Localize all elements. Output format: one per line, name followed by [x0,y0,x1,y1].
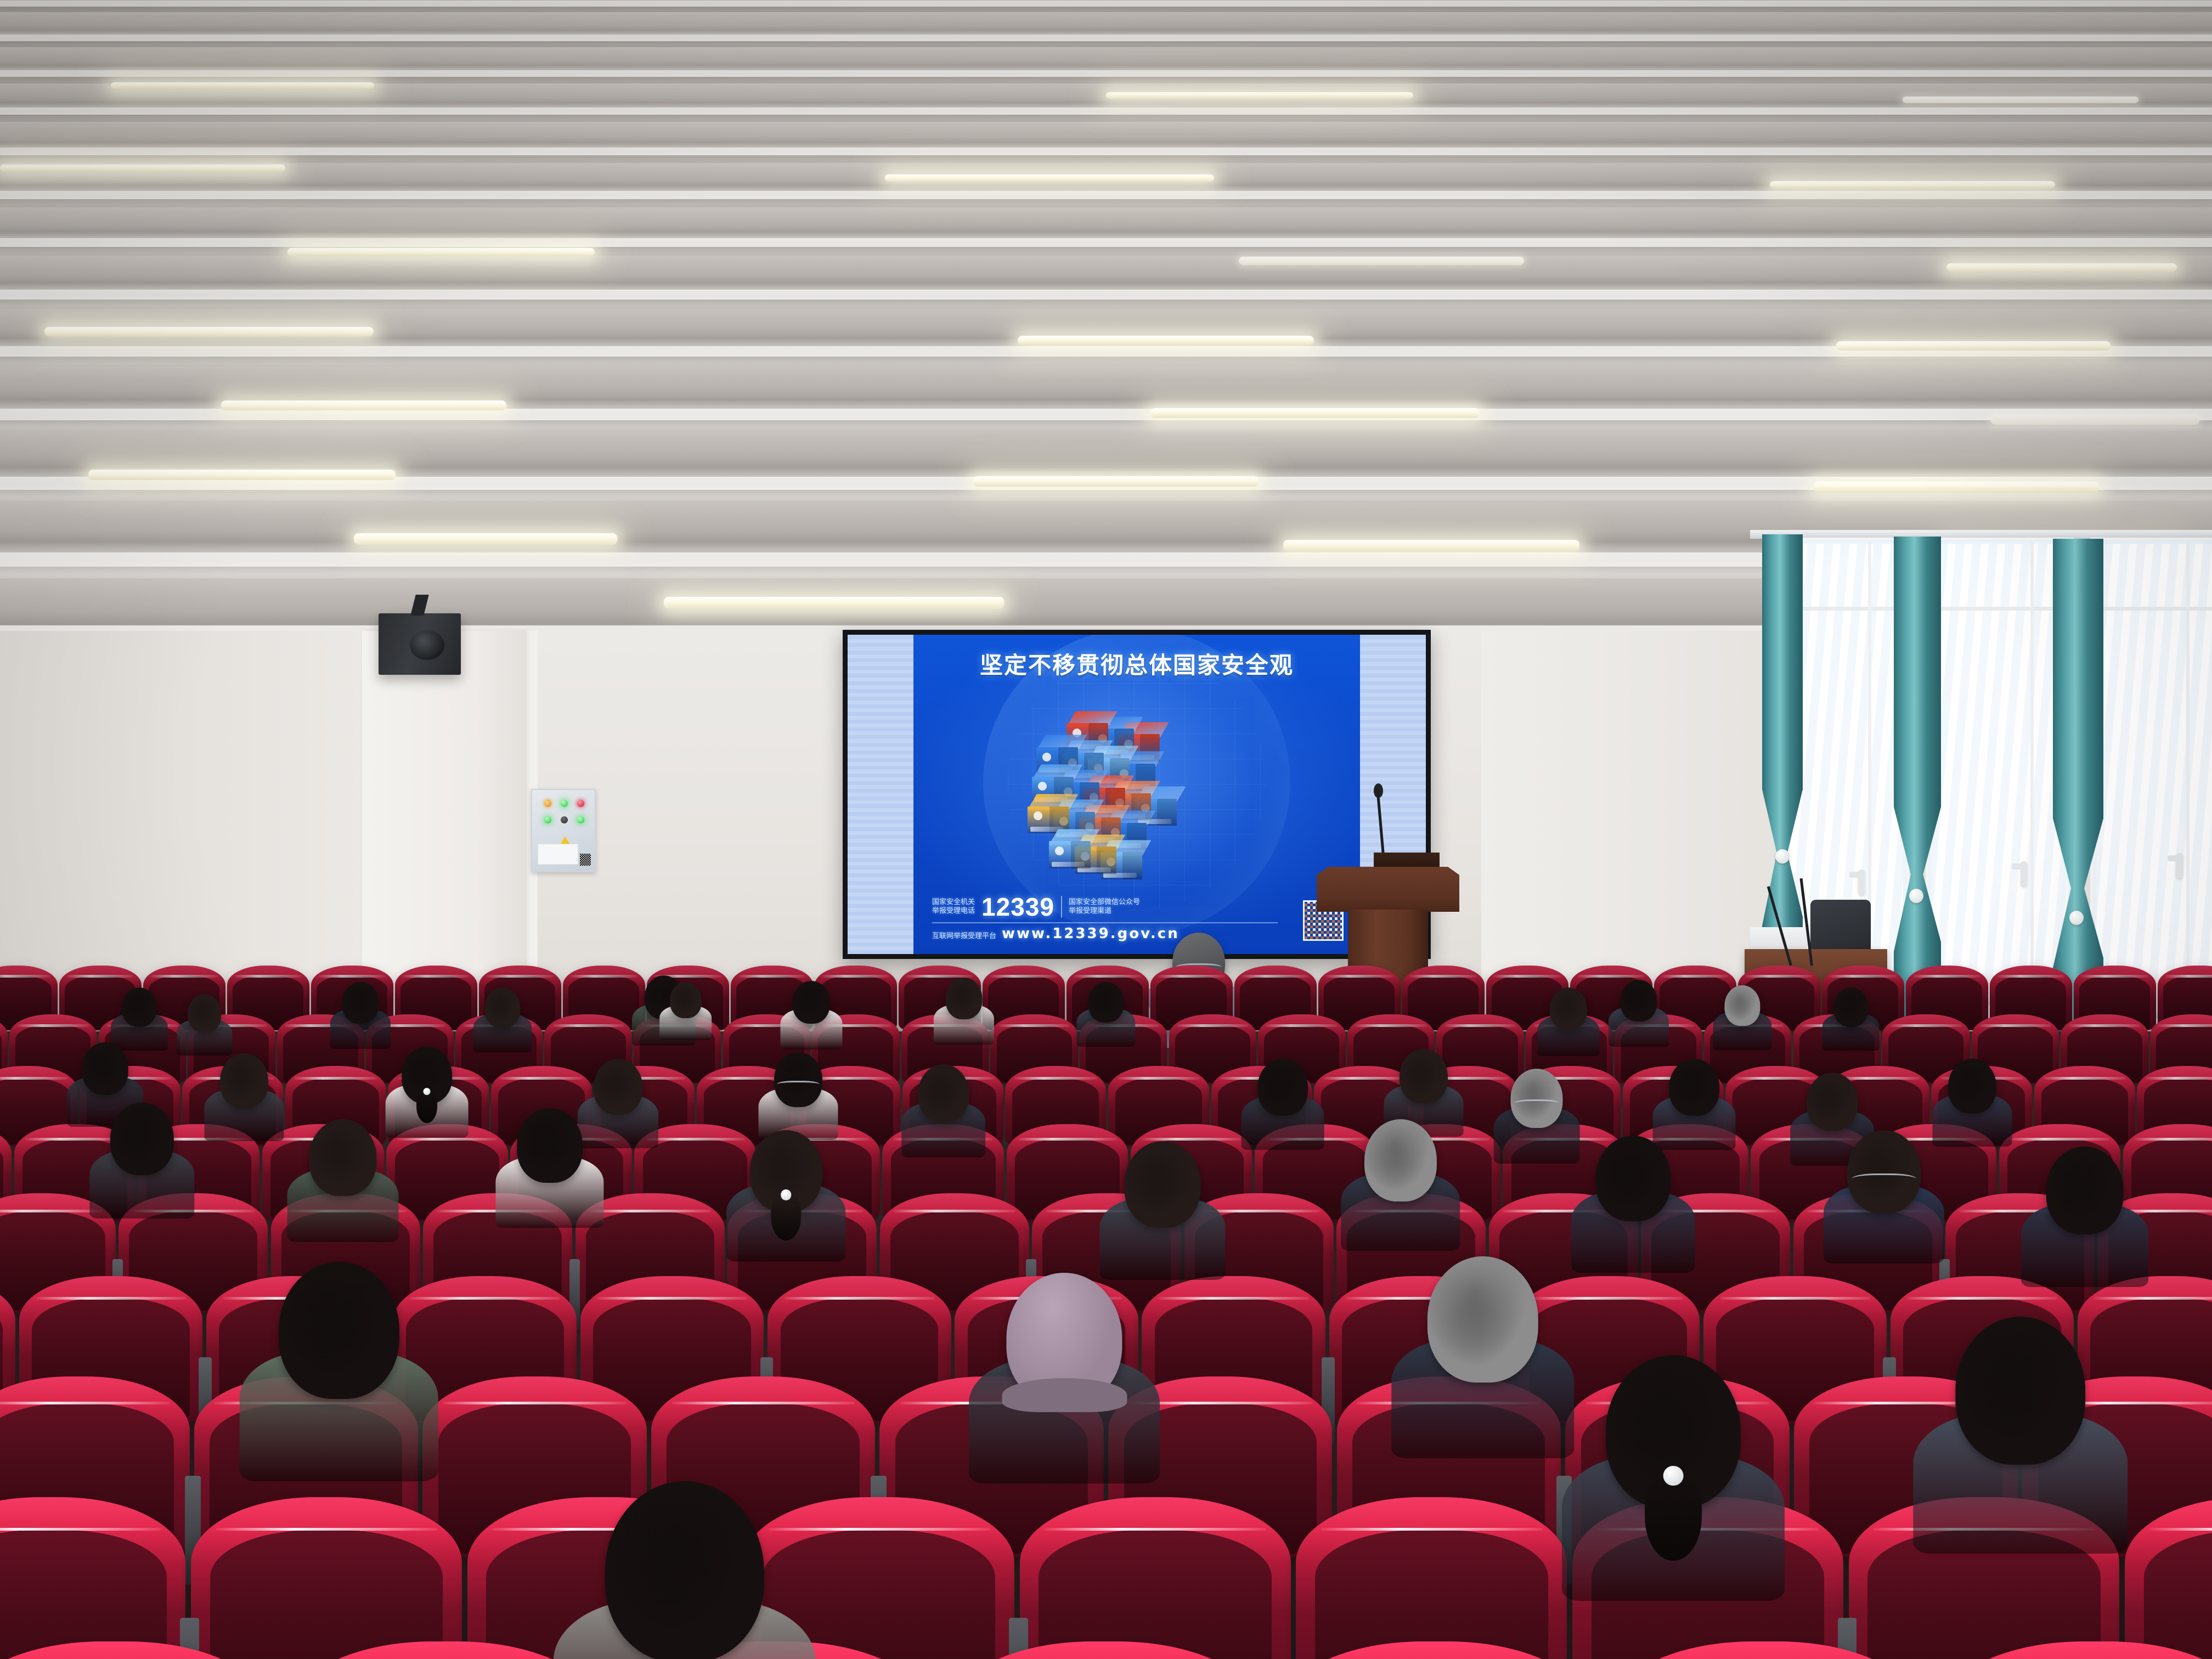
audience-member [88,1103,196,1218]
ceiling-led-tube [1239,257,1524,265]
audience-member-head [122,988,156,1027]
audience-member [494,1108,606,1228]
audience-member-head [1621,980,1657,1022]
audience-member-head [605,1481,764,1659]
auditorium-seat[interactable] [191,1497,462,1659]
ceiling-led-tube [221,400,506,410]
baffle-ledge [0,148,2212,155]
audience-member [658,982,713,1040]
slide-footer-row-hotline: 国家安全机关 举报受理电话 12339 国家安全部微信公众号 举报受理渠道 [932,893,1344,921]
cube-icon [1038,782,1047,791]
audience-member-head [1257,1059,1308,1116]
hair-tie [781,1189,792,1200]
audience-member [1821,988,1881,1051]
curtain-tieback-3 [2069,911,2084,925]
audience-member-head [750,1130,822,1212]
audience-member [1821,1130,1946,1263]
ceiling-led-tube [1018,336,1314,345]
eyeglasses-icon [777,1081,819,1090]
ceiling-led-tube [1946,263,2177,272]
curtain-tieback-2 [1909,889,1923,903]
ceiling-led-tube [1814,482,2099,493]
window-handle-3[interactable] [2176,853,2183,878]
ceiling-led-tube [1903,97,2138,103]
audience-member-head [1510,1069,1562,1128]
audience-member [757,1052,839,1140]
ceiling-baffle [0,366,2212,420]
ceiling-led-tube [885,174,1214,182]
ceiling-led-tube [1283,540,1579,551]
audience-member-head [774,1052,822,1107]
audience-member-head [1955,1317,2086,1465]
audience-member-head [279,1262,399,1399]
audience-member [1558,1355,1788,1601]
audience-member-head [1948,1059,1996,1114]
audience-member-head [1606,1355,1741,1509]
cube-icon [1055,847,1064,855]
baffle-ledge [0,70,2212,77]
audience-member-head [220,1053,268,1108]
audience-member-head [484,988,520,1028]
audience-member [933,978,995,1045]
audience-member-head [188,994,222,1032]
audience-member [329,982,392,1049]
ceiling-led-tube [0,165,285,172]
audience-member-head [309,1119,376,1196]
ceiling-baffle [0,47,2212,77]
slide-content: 坚定不移贯彻总体国家安全观 国家安全机关 举报受理电话 12339 国家安全部微… [913,635,1360,954]
audience-member [285,1119,400,1242]
audience-member-head [1669,1059,1719,1116]
audience-member-head [1595,1136,1671,1221]
ceiling-baffle [0,122,2212,155]
wall-speaker-left [379,613,461,675]
audience-member-head [402,1047,452,1104]
audience-member [1607,980,1670,1047]
footer-divider [1061,896,1062,918]
audience-member-head [1833,988,1868,1027]
podium-top-slab [1374,853,1440,869]
wechat-label: 国家安全部微信公众号 举报受理渠道 [1069,898,1140,916]
audience-member [779,981,843,1049]
window-handle-1[interactable] [1858,870,1865,895]
audience-member [1388,1256,1577,1458]
curtain-1[interactable] [1762,534,1803,990]
ceiling-led-tube [664,597,1004,609]
ceiling-led-tube [287,248,595,256]
audience-member-head [2046,1147,2124,1234]
audience-member-head [1364,1119,1437,1201]
ceiling-led-tube [1770,181,2055,189]
ceiling-baffle [0,12,2212,41]
footer-rule [932,922,1278,923]
audience-member [1339,1119,1462,1251]
hair-tie [423,1088,431,1096]
ceiling-baffle [0,256,2212,300]
ceiling-led-tube [1836,341,2111,351]
audience-member-head [918,1064,969,1122]
audience-member [966,1273,1163,1483]
podium-desk [1317,867,1459,912]
ceiling-baffle [0,0,2212,7]
red-indicator-icon [577,800,584,807]
audience-member-head [1400,1049,1448,1104]
audience-member-head [517,1108,583,1183]
amber-indicator-icon [544,800,551,807]
baffle-ledge [0,290,2212,299]
hotline-number: 12339 [981,892,1054,922]
audience-member-head [1088,982,1124,1023]
audience-member [236,1262,442,1481]
audience-member-head [1124,1141,1200,1228]
audience-member-head [792,981,830,1024]
audience-member-head [1549,988,1587,1030]
window-handle-2[interactable] [2021,861,2027,887]
audience-member [900,1064,987,1158]
green-indicator-3-icon [577,816,584,823]
ceiling-led-tube [1106,92,1413,99]
audience-member [1569,1136,1697,1273]
cube-caption-bar [1052,862,1085,867]
hotline-label: 国家安全机关 举报受理电话 [932,898,975,916]
audience-member [1712,985,1773,1050]
window-transom-2 [1928,540,2071,611]
audience-member-head [1724,985,1760,1026]
curtain-tieback-1 [1775,849,1790,864]
slide-footer: 国家安全机关 举报受理电话 12339 国家安全部微信公众号 举报受理渠道 [932,891,1344,944]
audience-member-head-with-cap [1006,1273,1122,1404]
auditorium-seat[interactable] [1020,1497,1291,1659]
letterbox-left [848,635,913,954]
speaker-cone-left [410,630,444,660]
audience-member [472,988,533,1052]
baseball-cap-brim [1002,1378,1127,1412]
baffle-ledge [0,35,2212,41]
ceiling-led-tube [1150,408,1480,418]
security-domain-cube [1049,826,1091,870]
audience-member [1492,1069,1581,1164]
audience-member [110,988,169,1051]
auditorium-seat[interactable] [1296,1497,1567,1659]
audience-member [1240,1059,1325,1150]
audience-member-head [342,982,379,1024]
audience-member [1536,988,1600,1056]
baffle-ledge [0,191,2212,199]
ceiling-led-tube [1991,415,2199,425]
slide-footer-row-url: 互联网举报受理平台 www.12339.gov.cn [932,926,1180,942]
ceiling-led-tube [973,476,1259,487]
ceiling-led-tube [111,82,374,89]
curtain-3[interactable] [2053,539,2103,1038]
electrical-control-panel[interactable] [531,789,596,872]
auditorium-seat[interactable] [0,1497,185,1659]
ceiling-led-tube [88,470,396,480]
ceiling-led-tube [354,533,617,545]
audience-member-head [1427,1256,1538,1383]
baffle-ledge [0,1,2212,7]
slide-title: 坚定不移贯彻总体国家安全观 [913,647,1360,680]
baffle-ledge [0,108,2212,115]
audience-member [549,1481,820,1659]
audience-member-head [82,1042,128,1095]
dark-indicator-icon [561,816,568,823]
baffle-ledge [0,238,2212,247]
ceiling-baffle [0,207,2212,247]
platform-label: 互联网举报受理平台 [932,932,996,941]
audience-member-head [946,978,983,1019]
cube-icon [1034,811,1042,820]
eyeglasses-icon [1852,1173,1916,1187]
audience-member [1075,982,1136,1047]
cube-icon [1042,753,1051,761]
auditorium-scene: 坚定不移贯彻总体国家安全观 国家安全机关 举报受理电话 12339 国家安全部微… [0,0,2212,1659]
audience-member-head [1807,1073,1858,1131]
audience-member [203,1053,285,1141]
panel-label-plate [538,844,578,865]
eyeglasses-icon [1514,1099,1560,1109]
audience-member-head [1847,1130,1921,1214]
green-indicator-2-icon [544,816,551,823]
audience-member-head [594,1059,643,1115]
green-indicator-1-icon [561,800,568,807]
curtain-2[interactable] [1894,537,1941,1019]
ceiling-led-tube [44,327,374,336]
audience-member [1097,1141,1227,1280]
audience-member-head [669,982,701,1018]
panel-qr-code-icon [580,854,591,866]
audience-member [724,1130,848,1262]
window-transom-3 [2093,540,2212,611]
audience-member-head [110,1103,174,1175]
audience-member [176,994,233,1056]
audience-member [1909,1317,2131,1554]
audience-member [2019,1147,2151,1287]
cube-cluster-graphic [1008,691,1266,911]
